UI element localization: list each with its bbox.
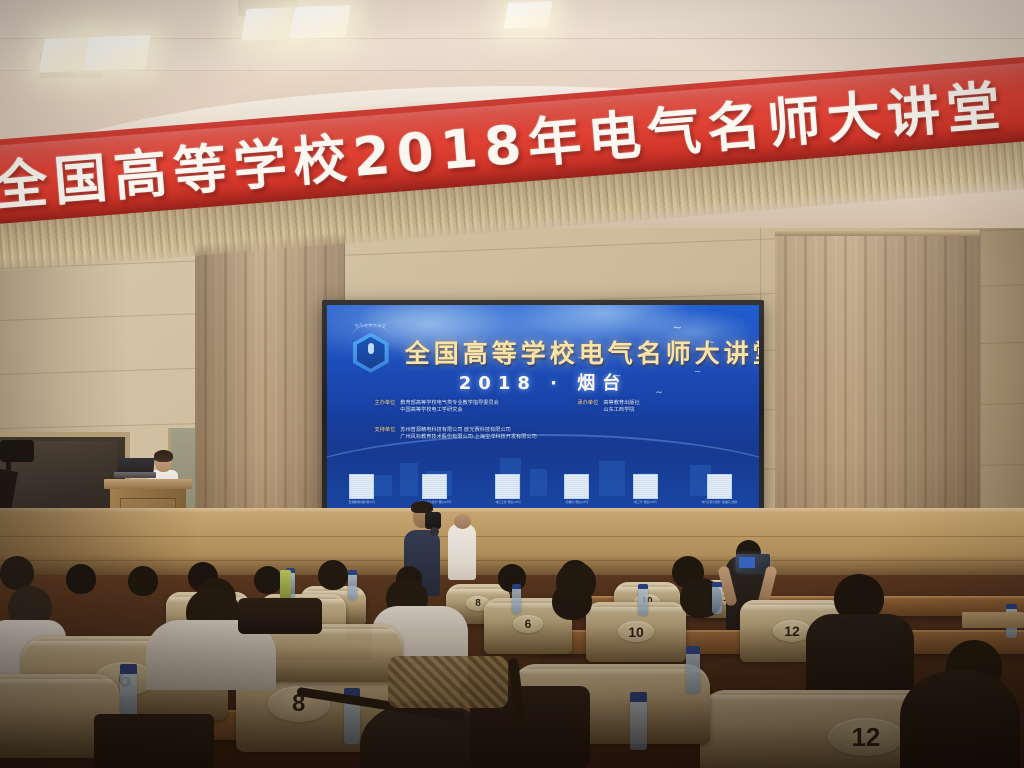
- audience-head: [0, 556, 34, 590]
- bottle-cap: [348, 570, 357, 575]
- laptop-base: [114, 472, 156, 478]
- audience-head: [254, 566, 282, 594]
- bottle-cap: [1006, 604, 1017, 609]
- water-bottle: [512, 588, 521, 614]
- bottle-cap: [512, 584, 521, 589]
- screen-title: 全国高等学校电气名师大讲堂: [405, 334, 733, 370]
- organizer-line: 教育部高等学校电气类专业教学指导委员会: [400, 399, 499, 406]
- bottle-cap: [120, 664, 137, 674]
- water-bottle: [638, 588, 648, 616]
- organizer-names: 教育部高等学校电气类专业教学指导委员会 中国高等学校电工学研究会: [400, 399, 499, 413]
- qr-caption: "电工之家" 微信公众号: [495, 501, 521, 505]
- qr-code-icon[interactable]: [495, 474, 520, 499]
- seat-shading: [586, 602, 686, 662]
- qr-code-icon[interactable]: [707, 474, 732, 499]
- qr-item[interactable]: 普源精电科技有限公司: [349, 474, 375, 504]
- led-screen-display[interactable]: ∼ ∼ ∼ ∼ ∼ ∼ ∼ 电气名师大讲堂: [327, 305, 759, 513]
- camera-lens-icon: [430, 527, 439, 536]
- organizer-line: 苏州普源精电科技有限公司 欧光赛科技有限公司: [400, 426, 537, 433]
- organizer-label: 承办单位: [578, 399, 599, 413]
- audience-head: [556, 562, 596, 602]
- audience-torso-patterned: [388, 656, 508, 708]
- qr-code-strip: 普源精电科技有限公司 "电气名师大讲堂" 微信公众号 "电工之家" 微信公众号 …: [349, 474, 738, 504]
- organizer-label: 支持单位: [375, 426, 396, 440]
- qr-caption: 普源精电科技有限公司: [349, 501, 375, 505]
- qr-code-icon[interactable]: [633, 474, 658, 499]
- phone-screen: [739, 557, 755, 568]
- organizer-line: 高等教育出版社: [603, 399, 639, 406]
- ceiling-light-panel: [241, 7, 293, 41]
- auditorium-photo: 全国高等学校2018年电气名师大讲堂 ∼ ∼ ∼ ∼ ∼ ∼ ∼: [0, 0, 1024, 768]
- video-camera-icon: [0, 440, 34, 462]
- bag: [94, 714, 214, 768]
- qr-caption: "电工学" 微信公众号: [634, 501, 657, 505]
- qr-code-icon[interactable]: [564, 474, 589, 499]
- conference-logo: 电气名师大讲堂: [349, 324, 393, 374]
- water-bottle: [348, 574, 357, 600]
- bottle-cap: [638, 584, 648, 589]
- organizer-line: 广州风标教育技术股份有限公司 上海宝洋科技开发有限公司: [400, 433, 537, 440]
- seagull-icon: ∼: [673, 324, 682, 333]
- bottle-cap: [686, 646, 700, 654]
- qr-item[interactable]: "高教社" 微信公众号: [564, 474, 589, 504]
- logo-arc-text: 电气名师大讲堂: [349, 323, 393, 329]
- qr-code-icon[interactable]: [422, 474, 447, 499]
- organizer-line: 山东工商学院: [603, 406, 639, 413]
- logo-figure: [368, 343, 374, 354]
- screen-subtitle: 2018 · 烟台: [327, 369, 759, 395]
- seat[interactable]: 10: [586, 602, 686, 662]
- organizer-names: 高等教育出版社 山东工商学院: [603, 399, 639, 413]
- foreground-head: [900, 670, 1020, 768]
- audience-head: [128, 566, 158, 596]
- speaker-hair: [154, 450, 173, 462]
- organizer-row-undertaker: 承办单位 高等教育出版社 山东工商学院: [578, 399, 640, 413]
- organizer-row-host: 主办单位 教育部高等学校电气类专业教学指导委员会 中国高等学校电工学研究会: [375, 399, 499, 413]
- qr-item[interactable]: "电工之家" 微信公众号: [495, 474, 521, 504]
- qr-item[interactable]: "电工学" 微信公众号: [633, 474, 658, 504]
- bag: [238, 598, 322, 634]
- led-screen-bezel: ∼ ∼ ∼ ∼ ∼ ∼ ∼ 电气名师大讲堂: [322, 300, 764, 518]
- bottle-cap: [630, 692, 647, 702]
- assistant-head: [454, 514, 471, 529]
- bottle-cap: [712, 582, 722, 587]
- water-bottle: [686, 652, 700, 694]
- qr-caption: "高教社" 微信公众号: [565, 501, 588, 505]
- organizer-label: 主办单位: [375, 399, 396, 413]
- ceiling-light-panel: [39, 37, 89, 73]
- audience-head: [318, 560, 348, 590]
- curtain-rail-right: [775, 230, 980, 236]
- ceiling-light-panel: [83, 35, 151, 71]
- water-bottle: [630, 700, 647, 750]
- ceiling-seam: [0, 38, 1024, 39]
- organizer-line: 中国高等学校电工学研究会: [400, 406, 499, 413]
- side-table: [962, 612, 1024, 628]
- organizer-row-supporter: 支持单位 苏州普源精电科技有限公司 欧光赛科技有限公司 广州风标教育技术股份有限…: [375, 426, 537, 440]
- audience-head: [66, 564, 96, 594]
- qr-code-icon[interactable]: [349, 474, 374, 499]
- qr-caption: "电气名师大讲堂" 直播间二维码: [701, 501, 737, 505]
- ceiling-light-panel: [504, 1, 553, 29]
- qr-item[interactable]: "电气名师大讲堂" 直播间二维码: [701, 474, 737, 504]
- assistant-torso: [448, 524, 476, 580]
- ceiling-light-panel: [289, 5, 351, 39]
- organizer-names: 苏州普源精电科技有限公司 欧光赛科技有限公司 广州风标教育技术股份有限公司 上海…: [400, 426, 537, 440]
- podium-top: [104, 479, 192, 489]
- water-bottle: [712, 586, 722, 614]
